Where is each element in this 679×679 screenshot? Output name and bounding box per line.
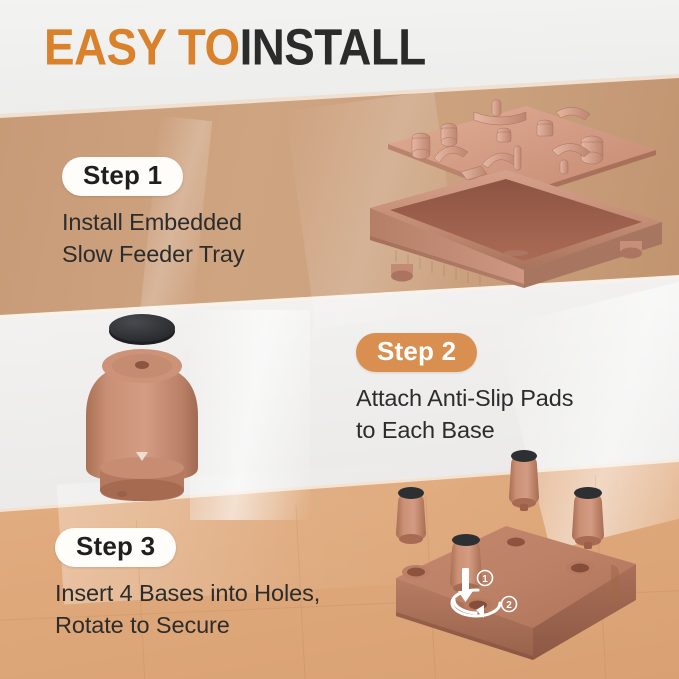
base-center-hole: [135, 361, 149, 369]
feeder-bowl-tray: [370, 170, 662, 288]
step-3-description: Insert 4 Bases into Holes, Rotate to Sec…: [55, 578, 320, 641]
anti-slip-pad: [574, 487, 602, 499]
base-socket-hole: [502, 535, 530, 549]
floating-base-leg: [396, 487, 426, 544]
anti-slip-pad: [511, 450, 537, 462]
step-2-text-block: Step 2 Attach Anti-Slip Pads to Each Bas…: [356, 333, 573, 446]
product-infographic: EASY TOINSTALL: [0, 0, 679, 679]
page-title-part-1: EASY TO: [44, 20, 240, 76]
step-1-text-block: Step 1 Install Embedded Slow Feeder Tray: [62, 157, 245, 270]
step-1-illustration: [356, 98, 679, 293]
anti-slip-pad: [452, 534, 480, 546]
inverted-tray-base: [396, 526, 636, 660]
annotation-marker-2: 2: [506, 600, 512, 611]
inverted-base-leg: [86, 349, 198, 501]
step-1-badge: Step 1: [62, 157, 183, 196]
base-socket-hole: [566, 561, 594, 575]
step-1-description: Install Embedded Slow Feeder Tray: [62, 207, 245, 270]
annotation-marker-1: 1: [482, 574, 488, 585]
step-3-text-block: Step 3 Insert 4 Bases into Holes, Rotate…: [55, 528, 320, 641]
step-2-description: Attach Anti-Slip Pads to Each Base: [356, 383, 573, 446]
step-3-badge: Step 3: [55, 528, 176, 567]
step-2-badge: Step 2: [356, 333, 477, 372]
floating-base-leg: [572, 487, 604, 549]
page-title-part-2: INSTALL: [240, 20, 426, 76]
anti-slip-pad: [109, 314, 175, 345]
embossed-logo: [504, 250, 528, 256]
base-socket-hole: [402, 565, 430, 579]
page-title: EASY TOINSTALL: [44, 23, 426, 74]
step-3-illustration: 1 2: [368, 448, 679, 679]
floating-base-leg: [509, 450, 539, 511]
step-2-illustration: [78, 298, 233, 513]
anti-slip-pad: [398, 487, 424, 499]
